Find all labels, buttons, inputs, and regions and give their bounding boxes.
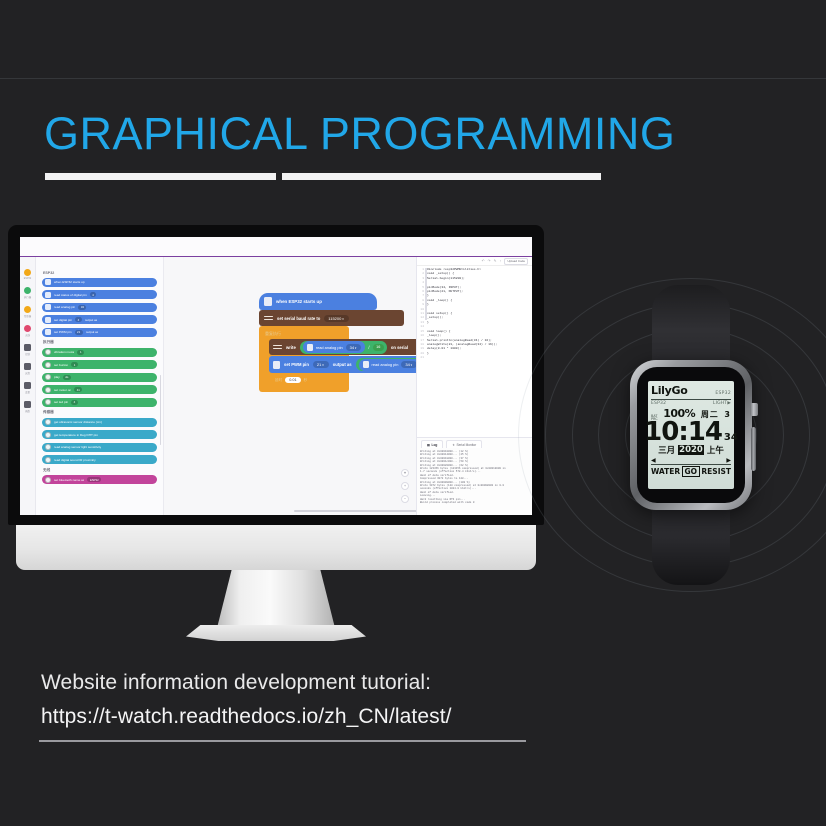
palette-block-value[interactable]: ESP32 <box>87 477 101 482</box>
on-serial-label: on serial <box>391 345 408 350</box>
palette-block-pin[interactable]: do <box>63 375 71 380</box>
footer-line-1: Website information development tutorial… <box>41 666 561 700</box>
esp32-chip-icon <box>273 361 280 369</box>
palette-block-pin[interactable]: 1 <box>71 362 78 367</box>
clock-seconds: 34 <box>724 432 738 444</box>
watch-side-button[interactable] <box>751 427 756 471</box>
block-palette[interactable]: ESP32 when ESP32 starts up read status o… <box>36 257 164 515</box>
read-pin-dropdown[interactable]: 34 <box>401 361 416 368</box>
palette-block[interactable]: set buzzer 1 <box>42 360 157 369</box>
pwm-output-label: output as <box>333 362 352 367</box>
ultrasonic-icon <box>45 419 51 425</box>
lcd-light-label[interactable]: LIGHT▶ <box>713 401 731 406</box>
delay-unit: 秒 <box>304 378 308 383</box>
lcd-time-row: 10:14 34 <box>651 420 731 444</box>
read-pin-label: read analog pin <box>316 345 343 350</box>
palette-block-label: read digital sound IR proximity <box>54 458 96 462</box>
year-label: 2020 <box>678 445 704 455</box>
graphical-programming-ide: ESP32 ESP32 执行器 <box>20 237 532 515</box>
go-button[interactable]: GO <box>682 466 701 477</box>
lcd-divider-top <box>651 399 731 400</box>
palette-block[interactable]: get temperature in Deg DHT pin <box>42 430 157 439</box>
tab-serial-monitor[interactable]: ↯ Serial Monitor <box>446 440 482 448</box>
palette-block-pin[interactable]: 4 <box>75 317 82 322</box>
esp32-chip-icon <box>45 317 51 323</box>
canvas-horizontal-scrollbar[interactable] <box>294 510 416 512</box>
palette-block-label: set bluetooth name as <box>54 478 84 482</box>
category-rail: ESP32 执行器 传感器 无线 <box>20 257 36 515</box>
palette-block-label: play <box>54 375 60 379</box>
palette-block[interactable]: get ultrasonic sensor distance (cm) <box>42 418 157 427</box>
hat-block-when-esp32-starts[interactable]: when ESP32 starts up <box>259 293 377 310</box>
smartwatch-showcase: LilyGo ESP32 ESP32 LIGHT▶ BAT PRC <box>556 250 826 620</box>
palette-block-label: vibration motor <box>54 350 74 354</box>
esp32-chip-icon <box>363 361 369 368</box>
edit-icon[interactable]: ✎ <box>494 259 497 263</box>
palette-block-label: get temperature in Deg DHT pin <box>54 433 98 437</box>
palette-block-label: set led pin <box>54 400 68 404</box>
palette-block-label2: output as <box>86 330 99 334</box>
palette-block-label: set buzzer <box>54 363 68 367</box>
redo-icon[interactable]: ↷ <box>488 259 491 263</box>
serial-icon <box>273 344 282 351</box>
palette-block-label: read analog sensor light sensitivity <box>54 445 101 449</box>
palette-block-pin[interactable]: 4 <box>90 292 97 297</box>
palette-block-label: get ultrasonic sensor distance (cm) <box>54 420 102 424</box>
clock-time: 10:14 <box>644 420 722 444</box>
resist-button[interactable]: RESIST <box>701 467 731 476</box>
serial-icon <box>264 315 273 322</box>
baud-label: set serial baud rate to <box>277 316 320 321</box>
rail-label: 控制 <box>25 352 30 356</box>
line-text: pinMode(21, OUTPUT); <box>427 290 463 294</box>
wireless-category-icon <box>24 325 31 332</box>
log-tabs: ▤ Log ↯ Serial Monitor <box>417 438 532 448</box>
palette-block-pin[interactable]: 1 <box>77 350 84 355</box>
divide-operator-block[interactable]: read analog pin 34 / 16 <box>300 341 387 354</box>
esp32-chip-icon <box>307 344 313 351</box>
bluetooth-icon <box>45 477 51 483</box>
serial-icon: ↯ <box>452 443 455 447</box>
palette-section-title: 执行器 <box>43 340 157 345</box>
watch-case-inner: LilyGo ESP32 ESP32 LIGHT▶ BAT PRC <box>637 367 745 503</box>
divide-symbol: / <box>368 345 369 350</box>
palette-section-title: 无线 <box>43 468 157 473</box>
palette-block[interactable]: read analog sensor light sensitivity <box>42 443 157 452</box>
sensor-category-icon <box>24 306 31 313</box>
footer-underline <box>39 740 526 742</box>
lcd-arrow-row: ◀ ▶ <box>651 457 731 464</box>
palette-block[interactable]: read status of digital pin 4 <box>42 290 157 299</box>
actuator-category-icon <box>24 287 31 294</box>
read-pin-label: read analog pin <box>372 362 399 367</box>
monitor-stand-neck <box>216 570 336 632</box>
rail-label: 执行器 <box>24 295 31 299</box>
buzzer-icon <box>45 362 51 368</box>
title-underline-left <box>45 173 276 180</box>
palette-block[interactable]: set led pin 4 <box>42 398 157 407</box>
palette-block-pin[interactable]: 4 <box>71 400 78 405</box>
block-set-pwm-pin[interactable]: set PWM pin 21 output as read analog pin… <box>269 356 416 373</box>
line-text: } <box>427 352 429 356</box>
write-label: write <box>286 345 296 350</box>
palette-block-label: set digital pin <box>54 318 72 322</box>
palette-block-pin[interactable]: 41 <box>74 387 82 392</box>
palette-block[interactable]: vibration motor 1 <box>42 348 157 357</box>
palette-section-title: 传感器 <box>43 410 157 415</box>
serial-tab-label: Serial Monitor <box>457 443 477 447</box>
rail-item-wireless[interactable]: 无线 <box>24 325 31 337</box>
block-write-on-serial[interactable]: write read analog pin 34 / <box>269 339 416 355</box>
divide-operator-block[interactable]: read analog pin 34 / 16 <box>356 358 416 371</box>
desktop-monitor: ESP32 ESP32 执行器 <box>8 225 544 645</box>
esp32-chip-icon <box>45 279 51 285</box>
block-delay[interactable]: 延时 0.01 秒 <box>269 377 349 383</box>
function-category-icon <box>24 401 31 408</box>
baud-dropdown[interactable]: 115200 <box>324 315 348 322</box>
esp32-chip-icon <box>45 304 51 310</box>
monitor-screen: ESP32 ESP32 执行器 <box>20 237 532 515</box>
palette-block[interactable]: when ESP32 starts up <box>42 278 157 287</box>
upload-code-button[interactable]: Upload Code <box>504 258 528 265</box>
rail-item-esp32[interactable]: ESP32 <box>24 269 31 280</box>
log-panel: ▤ Log ↯ Serial Monitor Writing at 0x0001… <box>417 437 532 515</box>
arrow-left-icon[interactable]: ◀ <box>651 457 656 464</box>
palette-block-label: when ESP32 starts up <box>54 280 85 284</box>
code-line: 21 <box>417 356 532 360</box>
read-pin-dropdown[interactable]: 34 <box>346 344 362 351</box>
palette-block[interactable]: set bluetooth name as ESP32 <box>42 475 157 484</box>
monitor-bezel: ESP32 ESP32 执行器 <box>8 225 544 525</box>
palette-block-label2: output as <box>85 318 98 322</box>
rail-label: 无线 <box>25 333 30 337</box>
rail-item-functions[interactable]: 函数 <box>24 401 31 413</box>
watch-crown[interactable] <box>750 403 758 416</box>
arrow-right-icon[interactable]: ▶ <box>726 457 731 464</box>
palette-block[interactable]: set PWM pin 21 output as <box>42 328 157 337</box>
block-set-serial-baud[interactable]: set serial baud rate to 115200 <box>259 310 404 326</box>
watch-lcd-screen[interactable]: LilyGo ESP32 ESP32 LIGHT▶ BAT PRC <box>648 381 734 489</box>
ide-topbar <box>20 237 532 257</box>
rail-item-control[interactable]: 控制 <box>24 344 31 356</box>
block-script[interactable]: when ESP32 starts up set serial baud rat… <box>259 293 416 392</box>
esp32-chip-icon <box>45 329 51 335</box>
esp32-chip-icon <box>45 292 51 298</box>
esp32-chip-icon <box>264 297 272 306</box>
watch-chip-label: ESP32 <box>715 391 731 396</box>
line-number: 21 <box>417 356 424 360</box>
rail-label: 变量 <box>25 390 30 394</box>
title-underline <box>45 173 601 180</box>
palette-section-title: ESP32 <box>43 271 157 275</box>
pwm-pin-dropdown[interactable]: 21 <box>313 361 329 368</box>
variable-category-icon <box>24 382 31 389</box>
servo-icon <box>45 387 51 393</box>
month-label: 三月 <box>658 444 675 456</box>
light-sensor-icon <box>45 444 51 450</box>
watch-case: LilyGo ESP32 ESP32 LIGHT▶ BAT PRC <box>630 360 752 510</box>
monitor-chin <box>16 525 536 570</box>
delay-label: 延时 <box>275 378 282 383</box>
ampm-label: 上午 <box>707 444 724 456</box>
canvas-zoom-controls: ⌖ + − <box>401 469 409 503</box>
ide-body: ESP32 执行器 传感器 无线 <box>20 257 532 515</box>
control-category-icon <box>24 344 31 351</box>
divisor-input[interactable]: 16 <box>373 344 384 351</box>
rail-item-sensors[interactable]: 传感器 <box>24 306 31 318</box>
log-tab-label: Log <box>432 443 438 447</box>
water-button[interactable]: WATER <box>651 467 680 476</box>
zoom-in-icon[interactable]: + <box>401 482 409 490</box>
monitor-stand-base <box>186 625 366 641</box>
rail-item-operators[interactable]: 运算 <box>24 363 31 375</box>
line-text: Serial.begin(115200); <box>427 277 465 281</box>
line-text: delay(0.01 * 1000); <box>427 347 461 351</box>
lcd-module-label: ESP32 <box>651 401 666 406</box>
play-icon <box>45 374 51 380</box>
log-line: Build process completed with code 0 <box>420 501 529 504</box>
code-editor[interactable]: 1#include <esp32PWMUtilities.h> 2void _s… <box>417 266 532 437</box>
code-panel: ↶ ↷ ✎ ↑ Upload Code 1#include <esp32PWMU… <box>416 257 532 515</box>
lcd-status-row: ESP32 LIGHT▶ <box>651 401 731 406</box>
log-output[interactable]: Writing at 0x00010000... (12 %) Writing … <box>417 448 532 507</box>
light-arrow-icon: ▶ <box>727 401 731 406</box>
lcd-divider-bottom <box>651 464 731 465</box>
undo-icon[interactable]: ↶ <box>482 259 485 263</box>
palette-block[interactable]: set motor on 41 <box>42 385 157 394</box>
rail-label: 函数 <box>25 409 30 413</box>
rail-label: 传感器 <box>24 314 31 318</box>
pwm-label: set PWM pin <box>284 362 309 367</box>
palette-block[interactable]: read digital sound IR proximity <box>42 455 157 464</box>
center-icon[interactable]: ⌖ <box>401 469 409 477</box>
loop-body: write read analog pin 34 / <box>259 339 349 383</box>
line-text: } <box>427 303 429 307</box>
lcd-brand-row: LilyGo ESP32 <box>651 384 731 397</box>
tab-log[interactable]: ▤ Log <box>421 440 443 448</box>
header-divider <box>0 78 826 79</box>
palette-block-label: set motor on <box>54 388 71 392</box>
light-text: LIGHT <box>713 401 727 406</box>
line-text: _setup(); <box>427 316 443 320</box>
hat-block-label: when ESP32 starts up <box>276 299 322 304</box>
palette-block-pin[interactable]: 21 <box>75 330 83 335</box>
line-text: } <box>427 321 429 325</box>
palette-scrollbar[interactable] <box>160 375 162 445</box>
proximity-icon <box>45 457 51 463</box>
palette-block[interactable]: play do <box>42 373 157 382</box>
line-text: void _loop() { <box>427 299 452 303</box>
palette-block-pin[interactable]: 34 <box>78 305 86 310</box>
code-toolbar: ↶ ↷ ✎ ↑ Upload Code <box>417 257 532 266</box>
upload-icon[interactable]: ↑ <box>500 259 502 263</box>
esp32-category-icon <box>24 269 31 276</box>
operator-category-icon <box>24 363 31 370</box>
watch-brand-label: LilyGo <box>651 384 688 397</box>
led-icon <box>45 399 51 405</box>
palette-block[interactable]: set digital pin 4 output as <box>42 315 157 324</box>
rail-item-variables[interactable]: 变量 <box>24 382 31 394</box>
palette-block-label: read analog pin <box>54 305 75 309</box>
smartwatch: LilyGo ESP32 ESP32 LIGHT▶ BAT PRC <box>616 285 766 585</box>
thermometer-icon <box>45 432 51 438</box>
lcd-date-row: 三月 2020 上午 <box>651 444 731 456</box>
rail-item-actuators[interactable]: 执行器 <box>24 287 31 299</box>
loop-label: 重复执行 <box>259 331 281 336</box>
palette-block-label: set PWM pin <box>54 330 72 334</box>
read-analog-pin-reporter[interactable]: read analog pin 34 <box>359 359 416 371</box>
day-of-month: 3 <box>724 410 731 419</box>
rail-label: ESP32 <box>24 277 31 280</box>
lcd-button-row: WATER GO RESIST <box>651 466 731 477</box>
rail-label: 运算 <box>25 371 30 375</box>
log-icon: ▤ <box>427 443 430 447</box>
motor-icon <box>45 349 51 355</box>
code-scrollbar[interactable] <box>425 268 427 320</box>
footer-block: Website information development tutorial… <box>41 666 561 742</box>
palette-block-label: read status of digital pin <box>54 293 87 297</box>
block-canvas[interactable]: when ESP32 starts up set serial baud rat… <box>164 257 416 515</box>
zoom-out-icon[interactable]: − <box>401 495 409 503</box>
delay-value-input[interactable]: 0.01 <box>285 377 300 383</box>
forever-loop-block[interactable]: 重复执行 write read analog pin <box>259 326 349 392</box>
read-analog-pin-reporter[interactable]: read analog pin 34 <box>303 341 366 353</box>
title-underline-right <box>282 173 601 180</box>
footer-line-2: https://t-watch.readthedocs.io/zh_CN/lat… <box>41 700 561 734</box>
palette-block[interactable]: read analog pin 34 <box>42 303 157 312</box>
page-title: GRAPHICAL PROGRAMMING <box>44 108 675 160</box>
